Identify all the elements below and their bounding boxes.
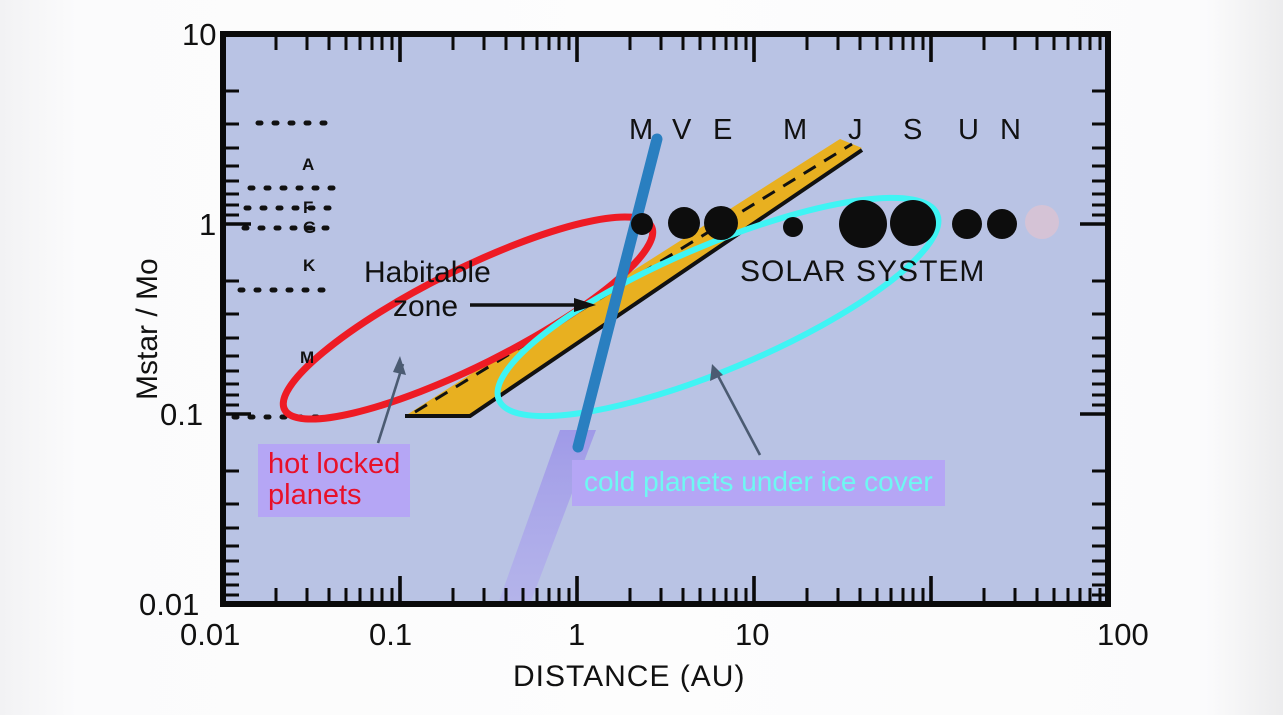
planet-label-neptune: N — [1000, 114, 1021, 147]
spectral-label-f: F — [303, 198, 313, 218]
planet-label-mars: M — [783, 114, 807, 147]
planet-dot-earth[interactable] — [704, 206, 738, 240]
habitable-zone-label-line2: zone — [393, 290, 458, 324]
x-tick-label-0p01: 0.01 — [180, 617, 240, 653]
planet-label-mercury: M — [629, 114, 653, 147]
hot-locked-line2: planets — [268, 480, 400, 511]
cold-planets-label: cold planets under ice cover — [572, 460, 945, 506]
x-tick-label-1: 1 — [568, 617, 585, 653]
planet-label-earth: E — [713, 114, 732, 147]
planet-dot-saturn[interactable] — [890, 200, 936, 246]
spectral-label-k: K — [303, 256, 315, 276]
planet-dot-venus[interactable] — [668, 207, 700, 239]
chart-figure: 10 1 0.1 0.01 0.01 0.1 1 10 100 DISTANCE… — [0, 0, 1283, 715]
planet-dot-neptune[interactable] — [987, 209, 1017, 239]
x-tick-label-100: 100 — [1097, 617, 1149, 653]
slide-page: 10 1 0.1 0.01 0.01 0.1 1 10 100 DISTANCE… — [0, 0, 1283, 715]
spectral-label-m: M — [300, 348, 314, 368]
spectral-label-a: A — [302, 155, 314, 175]
planet-dot-mars[interactable] — [783, 217, 803, 237]
planet-dot-uranus[interactable] — [952, 209, 982, 239]
planet-label-uranus: U — [958, 114, 979, 147]
planet-label-saturn: S — [903, 114, 922, 147]
x-tick-label-10: 10 — [735, 617, 769, 653]
hot-locked-planets-label: hot locked planets — [258, 444, 410, 517]
spectral-label-g: G — [303, 218, 316, 238]
planet-dot-mercury[interactable] — [631, 213, 653, 235]
y-tick-label-0p1: 0.1 — [160, 397, 203, 433]
x-tick-label-0p1: 0.1 — [369, 617, 412, 653]
hot-locked-line1: hot locked — [268, 449, 400, 480]
habitable-zone-label-line1: Habitable — [364, 256, 491, 290]
planet-dot-jupiter[interactable] — [839, 200, 887, 248]
planet-dot-pluto-faint — [1025, 205, 1059, 239]
y-axis-title: Mstar / Mo — [131, 258, 165, 400]
planet-label-jupiter: J — [848, 114, 863, 147]
planet-label-venus: V — [672, 114, 691, 147]
y-tick-label-10: 10 — [182, 17, 216, 53]
solar-system-label: SOLAR SYSTEM — [740, 255, 985, 289]
y-tick-label-1: 1 — [199, 207, 216, 243]
x-axis-title: DISTANCE (AU) — [513, 660, 745, 694]
